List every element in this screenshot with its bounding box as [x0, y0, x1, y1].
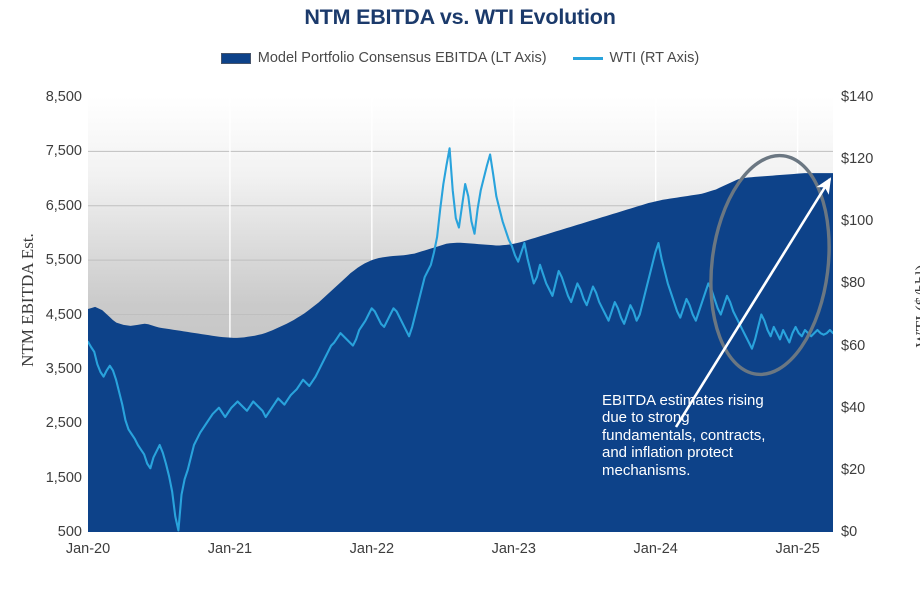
y-axis-left-tick-label: 8,500 [46, 90, 82, 105]
y-axis-right-tick-label: $80 [841, 276, 865, 291]
y-axis-left-tick-label: 6,500 [46, 199, 82, 214]
chart-annotation-text: EBITDA estimates rising due to strong fu… [602, 392, 782, 479]
y-axis-left-tick-label: 4,500 [46, 308, 82, 323]
y-axis-left-tick-label: 3,500 [46, 362, 82, 377]
chart-title: NTM EBITDA vs. WTI Evolution [0, 5, 920, 30]
y-axis-right-tick-label: $60 [841, 339, 865, 354]
legend-item-wti[interactable]: WTI (RT Axis) [573, 50, 700, 66]
legend-label-wti: WTI (RT Axis) [610, 50, 700, 66]
y-axis-right-tick-label: $40 [841, 401, 865, 416]
y-axis-right-tick-label: $0 [841, 525, 857, 540]
y-axis-right-ticks: $140$120$100$80$60$40$20$0 [841, 97, 903, 532]
y-axis-right-tick-label: $120 [841, 152, 873, 167]
y-axis-left-ticks: 8,5007,5006,5005,5004,5003,5002,5001,500… [10, 97, 82, 532]
y-axis-left-tick-label: 7,500 [46, 144, 82, 159]
x-axis-tick-label: Jan-24 [634, 541, 678, 557]
legend-label-ebitda: Model Portfolio Consensus EBITDA (LT Axi… [258, 50, 547, 66]
y-axis-right-tick-label: $140 [841, 90, 873, 105]
chart-container: NTM EBITDA vs. WTI Evolution Model Portf… [0, 0, 920, 592]
legend-item-ebitda[interactable]: Model Portfolio Consensus EBITDA (LT Axi… [221, 50, 547, 66]
y-axis-left-tick-label: 1,500 [46, 471, 82, 486]
x-axis-tick-label: Jan-20 [66, 541, 110, 557]
y-axis-right-title: WTI ($/bbl) [912, 216, 920, 396]
y-axis-left-tick-label: 500 [58, 525, 82, 540]
y-axis-right-tick-label: $100 [841, 214, 873, 229]
line-swatch-icon [573, 57, 603, 60]
x-axis-ticks: Jan-20Jan-21Jan-22Jan-23Jan-24Jan-25 [88, 541, 833, 565]
x-axis-tick-label: Jan-22 [350, 541, 394, 557]
y-axis-right-tick-label: $20 [841, 463, 865, 478]
area-swatch-icon [221, 53, 251, 64]
y-axis-left-tick-label: 2,500 [46, 416, 82, 431]
y-axis-left-tick-label: 5,500 [46, 253, 82, 268]
x-axis-tick-label: Jan-21 [208, 541, 252, 557]
chart-legend: Model Portfolio Consensus EBITDA (LT Axi… [0, 50, 920, 66]
x-axis-tick-label: Jan-25 [775, 541, 819, 557]
x-axis-tick-label: Jan-23 [492, 541, 536, 557]
